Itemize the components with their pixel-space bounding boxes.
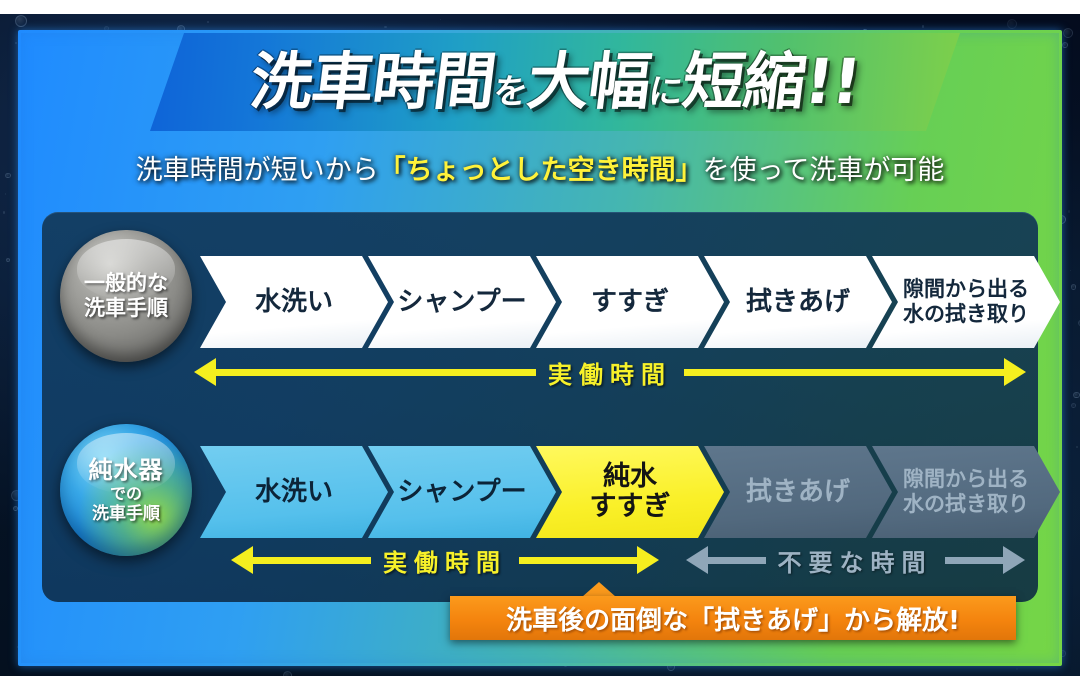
arrow-head-left-icon bbox=[194, 358, 216, 386]
badge-line-1: 純水器 bbox=[89, 456, 164, 484]
step-label: 水洗い bbox=[255, 287, 333, 318]
headline-part-2: 大幅 bbox=[523, 45, 654, 118]
headline-banner: 洗車時間を大幅に短縮!! bbox=[150, 33, 960, 131]
arrow-head-right-icon bbox=[1004, 358, 1026, 386]
step-label-multiline: 隙間から出る 水の拭き取り bbox=[903, 277, 1029, 327]
subtitle: 洗車時間が短いから「ちょっとした空き時間」を使って洗車が可能 bbox=[0, 148, 1080, 187]
badge-line-1: 一般的な bbox=[84, 271, 168, 296]
step-label: シャンプー bbox=[397, 287, 526, 318]
step-chevron[interactable]: 拭きあげ bbox=[704, 256, 892, 348]
step-label: 水洗い bbox=[255, 477, 333, 508]
callout-text: 洗車後の面倒な「拭きあげ」から解放! bbox=[506, 600, 960, 637]
callout-banner: 洗車後の面倒な「拭きあげ」から解放! bbox=[450, 596, 1016, 640]
badge-line-2: での bbox=[110, 485, 142, 504]
headline-part-1: 洗車時間 bbox=[246, 45, 499, 118]
step-label-multiline: 純水 すすぎ bbox=[590, 462, 671, 522]
step-label-line-1: 隙間から出る bbox=[903, 277, 1029, 302]
step-label: 拭きあげ bbox=[746, 287, 850, 318]
subtitle-prefix: 洗車時間が短いから bbox=[136, 155, 379, 186]
step-label-multiline: 隙間から出る 水の拭き取り bbox=[903, 467, 1029, 517]
step-label: 拭きあげ bbox=[746, 477, 850, 508]
arrow-line-right bbox=[945, 557, 1003, 564]
subtitle-highlight: 「ちょっとした空き時間」 bbox=[379, 155, 703, 186]
arrow-head-right-icon bbox=[637, 546, 659, 574]
headline-particle-2: に bbox=[646, 72, 684, 112]
step-chevron[interactable]: すすぎ bbox=[536, 256, 724, 348]
step-label-line-1: 隙間から出る bbox=[903, 467, 1029, 492]
infographic-root: 洗車時間を大幅に短縮!! 洗車時間が短いから「ちょっとした空き時間」を使って洗車… bbox=[0, 0, 1080, 690]
step-label: シャンプー bbox=[397, 477, 526, 508]
step-label-line-1: 純水 bbox=[590, 462, 671, 492]
arrow-label: 不要な時間 bbox=[766, 543, 945, 578]
arrow-bar-general: 実働時間 bbox=[200, 355, 1020, 389]
step-label-line-2: すすぎ bbox=[590, 492, 671, 522]
arrow-actual-working-time: 実働時間 bbox=[200, 543, 690, 578]
step-label: すすぎ bbox=[591, 287, 669, 318]
arrow-line-left bbox=[253, 557, 371, 564]
step-label-line-2: 水の拭き取り bbox=[903, 492, 1029, 517]
step-chevron[interactable]: 水洗い bbox=[200, 256, 388, 348]
subtitle-suffix: を使って洗車が可能 bbox=[703, 155, 945, 186]
arrow-line-left bbox=[708, 557, 766, 564]
arrow-head-right-icon bbox=[1003, 546, 1025, 574]
step-chevron[interactable]: 水洗い bbox=[200, 446, 388, 538]
badge-line-2: 洗車手順 bbox=[84, 296, 168, 321]
arrow-line-right bbox=[684, 369, 1004, 376]
badge-general-procedure: 一般的な 洗車手順 bbox=[60, 230, 192, 362]
arrow-label: 実働時間 bbox=[536, 355, 684, 390]
step-chevron-disabled[interactable]: 拭きあげ bbox=[704, 446, 892, 538]
step-chevron-highlight[interactable]: 純水 すすぎ bbox=[536, 446, 724, 538]
step-chevron[interactable]: 隙間から出る 水の拭き取り bbox=[872, 256, 1060, 348]
arrow-unnecessary-time: 不要な時間 bbox=[690, 543, 1020, 578]
arrow-line-right bbox=[519, 557, 637, 564]
badge-line-3: 洗車手順 bbox=[92, 504, 160, 524]
arrow-label: 実働時間 bbox=[371, 543, 519, 578]
arrow-line-left bbox=[216, 369, 536, 376]
headline-part-3: 短縮!! bbox=[678, 45, 864, 118]
headline-particle-1: を bbox=[491, 72, 529, 112]
callout-pointer-icon bbox=[582, 582, 616, 597]
arrow-head-left-icon bbox=[686, 546, 708, 574]
step-label-line-2: 水の拭き取り bbox=[903, 302, 1029, 327]
page-title: 洗車時間を大幅に短縮!! bbox=[247, 51, 863, 113]
arrow-actual-working-time: 実働時間 bbox=[200, 355, 1020, 390]
step-chevron-disabled[interactable]: 隙間から出る 水の拭き取り bbox=[872, 446, 1060, 538]
arrow-head-left-icon bbox=[231, 546, 253, 574]
step-chevron[interactable]: シャンプー bbox=[368, 446, 556, 538]
arrow-bar-pure-water: 実働時間 不要な時間 bbox=[200, 543, 1020, 577]
step-chevron[interactable]: シャンプー bbox=[368, 256, 556, 348]
badge-pure-water-procedure: 純水器 での 洗車手順 bbox=[60, 424, 192, 556]
